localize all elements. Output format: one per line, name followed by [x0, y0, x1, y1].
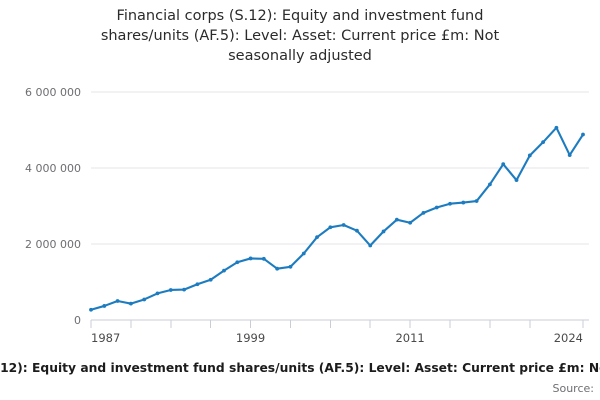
- footer-subtitle: Financial corps (S.12): Equity and inves…: [0, 361, 600, 375]
- axis-ticks: [91, 320, 583, 328]
- data-series-line[interactable]: [91, 128, 583, 310]
- svg-text:1987: 1987: [91, 331, 120, 345]
- svg-text:1999: 1999: [236, 331, 265, 345]
- svg-text:4 000 000: 4 000 000: [25, 162, 81, 175]
- chart-footer: Financial corps (S.12): Equity and inves…: [0, 360, 600, 400]
- svg-text:2011: 2011: [395, 331, 424, 345]
- svg-text:2024: 2024: [554, 331, 583, 345]
- source-label: Source:: [553, 382, 595, 395]
- y-axis-tick-labels: 6 000 0004 000 0002 000 0000: [25, 86, 81, 327]
- chart-container: Financial corps (S.12): Equity and inves…: [0, 0, 600, 400]
- line-chart-plot: 6 000 0004 000 0002 000 0000 19871999201…: [0, 0, 600, 360]
- svg-text:6 000 000: 6 000 000: [25, 86, 81, 99]
- x-axis-tick-labels: 1987199920112024: [91, 331, 583, 345]
- gridlines: [91, 92, 589, 244]
- svg-text:2 000 000: 2 000 000: [25, 238, 81, 251]
- svg-text:0: 0: [74, 314, 81, 327]
- data-point-markers[interactable]: [89, 126, 585, 312]
